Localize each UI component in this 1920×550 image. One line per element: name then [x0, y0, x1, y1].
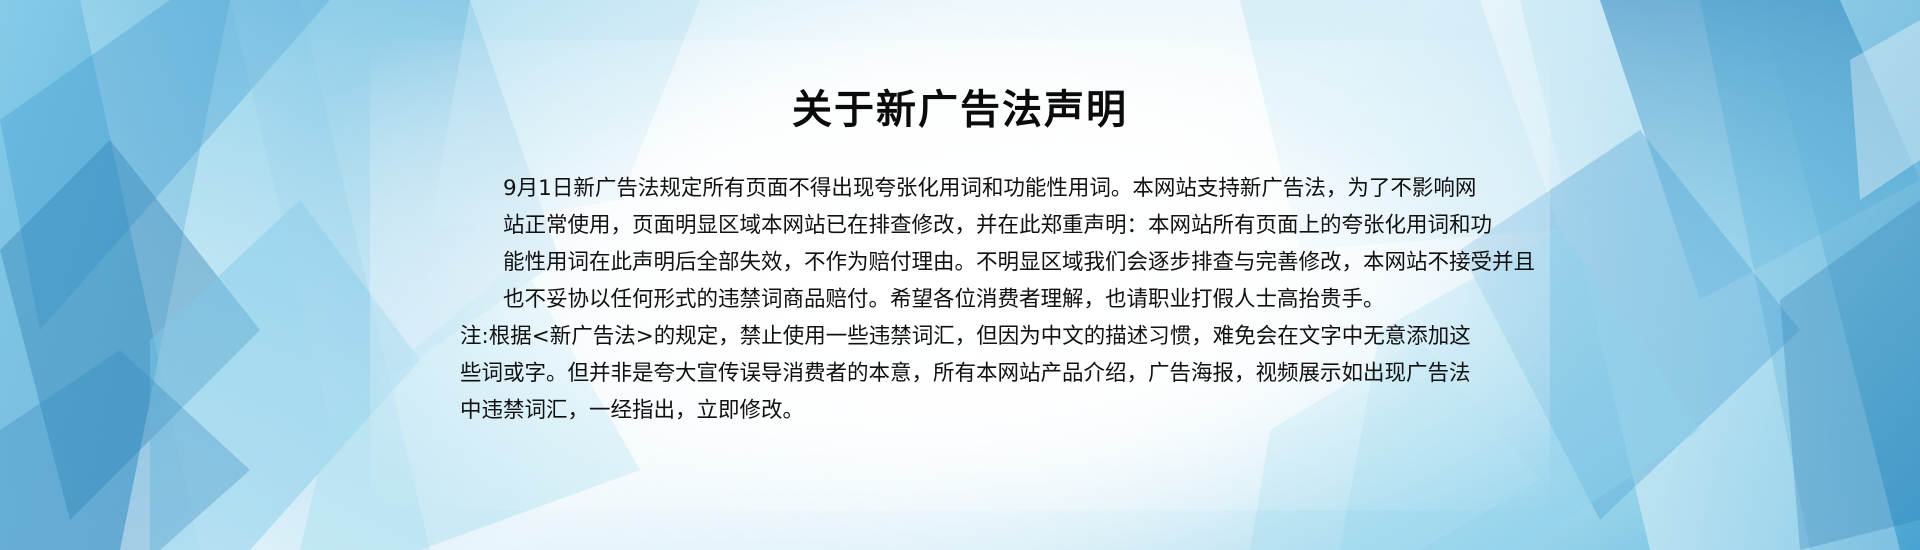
- statement-line: 9月1日新广告法规定所有页面不得出现夸张化用词和功能性用词。本网站支持新广告法，…: [460, 170, 1460, 207]
- paragraph-note: 注:根据<新广告法>的规定，禁止使用一些违禁词汇，但因为中文的描述习惯，难免会在…: [460, 318, 1460, 429]
- statement-line: 站正常使用，页面明显区域本网站已在排查修改，并在此郑重声明：本网站所有页面上的夸…: [460, 207, 1460, 244]
- statement-line: 也不妥协以任何形式的违禁词商品赔付。希望各位消费者理解，也请职业打假人士高抬贵手…: [460, 281, 1460, 318]
- statement-line: 能性用词在此声明后全部失效，不作为赔付理由。不明显区域我们会逐步排查与完善修改，…: [460, 244, 1460, 281]
- statement-body: 9月1日新广告法规定所有页面不得出现夸张化用词和功能性用词。本网站支持新广告法，…: [460, 170, 1460, 429]
- note-line: 注:根据<新广告法>的规定，禁止使用一些违禁词汇，但因为中文的描述习惯，难免会在…: [460, 318, 1460, 355]
- note-line: 些词或字。但并非是夸大宣传误导消费者的本意，所有本网站产品介绍，广告海报，视频展…: [460, 355, 1460, 392]
- statement-content: 关于新广告法声明 9月1日新广告法规定所有页面不得出现夸张化用词和功能性用词。本…: [0, 0, 1920, 550]
- note-line: 中违禁词汇，一经指出，立即修改。: [460, 392, 1460, 429]
- page-title: 关于新广告法声明: [0, 88, 1920, 132]
- advertising-law-statement-banner: 关于新广告法声明 9月1日新广告法规定所有页面不得出现夸张化用词和功能性用词。本…: [0, 0, 1920, 550]
- paragraph-statement: 9月1日新广告法规定所有页面不得出现夸张化用词和功能性用词。本网站支持新广告法，…: [460, 170, 1460, 318]
